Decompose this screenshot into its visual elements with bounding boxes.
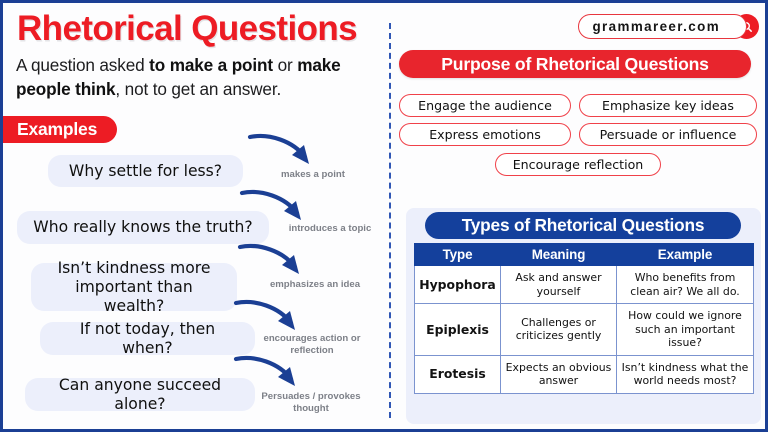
example-box: Isn’t kindness more important than wealt…: [31, 263, 237, 311]
cell-meaning: Ask and answer yourself: [501, 266, 617, 304]
types-card: Types of Rhetorical Questions Type Meani…: [406, 208, 761, 424]
table-header-row: Type Meaning Example: [415, 244, 754, 266]
table-row: Epiplexis Challenges or criticizes gentl…: [415, 304, 754, 356]
cell-meaning: Expects an obvious answer: [501, 355, 617, 393]
column-header-example: Example: [617, 244, 754, 266]
column-header-type: Type: [415, 244, 501, 266]
purpose-pill: Encourage reflection: [495, 153, 661, 176]
brand-logo[interactable]: grammareer.com: [578, 14, 759, 39]
curved-arrow-icon: [237, 241, 337, 283]
example-note: Persuades / provokes thought: [257, 391, 365, 415]
example-box: If not today, then when?: [40, 322, 255, 355]
example-box: Can anyone succeed alone?: [25, 378, 255, 411]
cell-type: Epiplexis: [415, 304, 501, 356]
example-note: emphasizes an idea: [261, 279, 369, 291]
purpose-pill: Express emotions: [399, 123, 571, 146]
cell-example: Isn’t kindness what the world needs most…: [617, 355, 754, 393]
purpose-section-title: Purpose of Rhetorical Questions: [399, 50, 751, 78]
example-box: Why settle for less?: [48, 155, 243, 187]
vertical-dashed-divider: [389, 23, 391, 418]
cell-type: Hypophora: [415, 266, 501, 304]
right-panel: grammareer.com Purpose of Rhetorical Que…: [395, 3, 765, 429]
example-note: introduces a topic: [276, 223, 384, 235]
column-header-meaning: Meaning: [501, 244, 617, 266]
types-table: Type Meaning Example Hypophora Ask and a…: [414, 243, 754, 394]
table-row: Hypophora Ask and answer yourself Who be…: [415, 266, 754, 304]
cell-type: Erotesis: [415, 355, 501, 393]
cell-meaning: Challenges or criticizes gently: [501, 304, 617, 356]
example-box: Who really knows the truth?: [17, 211, 269, 244]
infographic-page: Rhetorical Questions A question asked to…: [0, 0, 768, 432]
cell-example: How could we ignore such an important is…: [617, 304, 754, 356]
purpose-pill: Persuade or influence: [579, 123, 757, 146]
page-subtitle: A question asked to make a point or make…: [16, 53, 386, 101]
page-title: Rhetorical Questions: [17, 9, 357, 49]
purpose-pill: Engage the audience: [399, 94, 571, 117]
cell-example: Who benefits from clean air? We all do.: [617, 266, 754, 304]
table-row: Erotesis Expects an obvious answer Isn’t…: [415, 355, 754, 393]
purpose-pill: Emphasize key ideas: [579, 94, 757, 117]
examples-badge: Examples: [0, 116, 117, 143]
curved-arrow-icon: [247, 131, 347, 173]
brand-name: grammareer.com: [578, 14, 747, 39]
example-note: makes a point: [259, 169, 367, 181]
left-panel: Rhetorical Questions A question asked to…: [3, 3, 389, 429]
curved-arrow-icon: [233, 353, 333, 395]
types-section-title: Types of Rhetorical Questions: [425, 212, 741, 239]
